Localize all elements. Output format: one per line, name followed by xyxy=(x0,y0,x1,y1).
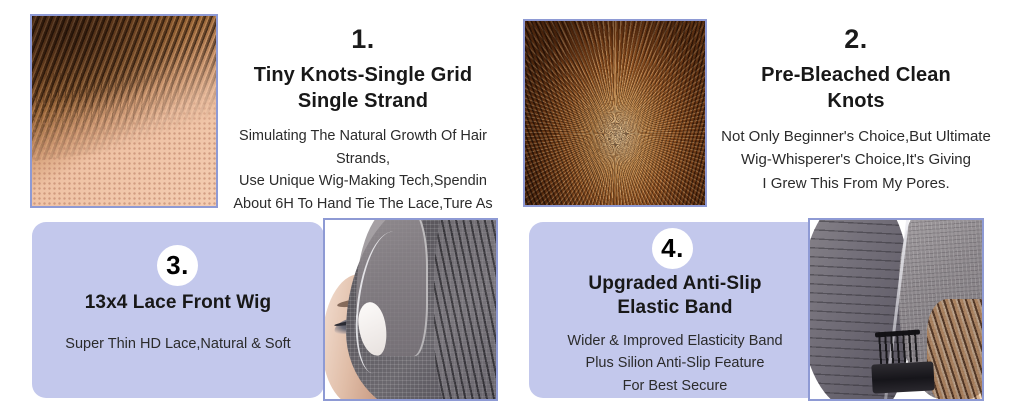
brown-hair-edge xyxy=(927,299,984,401)
panel-4-body-line-1: Wider & Improved Elasticity Band xyxy=(533,330,817,352)
lace-front-wig-photo xyxy=(323,218,498,401)
panel-2-text: 2. Pre-Bleached Clean Knots Not Only Beg… xyxy=(706,26,1006,195)
scalp-lace-closeup-photo xyxy=(30,14,218,208)
photo-art xyxy=(810,220,982,399)
panel-1-headline-line-1: Tiny Knots-Single Grid xyxy=(218,63,508,89)
panel-4-headline-line-2: Elastic Band xyxy=(533,296,817,320)
panel-1-text: 1. Tiny Knots-Single Grid Single Strand … xyxy=(218,26,508,238)
panel-3-headline: 13x4 Lace Front Wig xyxy=(36,291,320,315)
photo-art xyxy=(525,21,705,205)
anti-slip-elastic-band xyxy=(871,362,934,394)
panel-3-headline-line-1: 13x4 Lace Front Wig xyxy=(36,291,320,315)
panel-2-number: 2. xyxy=(706,26,1006,53)
panel-4-number-badge: 4. xyxy=(652,228,693,269)
panel-4-body-line-2: Plus Silion Anti-Slip Feature xyxy=(533,352,817,374)
elastic-band-cap-photo xyxy=(808,218,984,401)
hair-sweep-right xyxy=(608,19,707,207)
panel-2-headline: Pre-Bleached Clean Knots xyxy=(706,63,1006,114)
panel-1-body-line-1: Simulating The Natural Growth Of Hair St… xyxy=(218,125,508,170)
panel-4-body-line-3: For Best Secure xyxy=(533,375,817,397)
panel-3-body-line-1: Super Thin HD Lace,Natural & Soft xyxy=(36,333,320,355)
panel-1-number: 1. xyxy=(218,26,508,53)
bleached-knots-closeup-photo xyxy=(523,19,707,207)
panel-3-number: 3. xyxy=(166,252,189,278)
cap-combs xyxy=(878,330,918,365)
panel-1-headline: Tiny Knots-Single Grid Single Strand xyxy=(218,63,508,114)
panel-4-body: Wider & Improved Elasticity Band Plus Si… xyxy=(533,330,817,397)
panel-4-text: Upgraded Anti-Slip Elastic Band Wider & … xyxy=(533,272,817,397)
infographic-root: 1. Tiny Knots-Single Grid Single Strand … xyxy=(0,0,1024,420)
panel-3-body: Super Thin HD Lace,Natural & Soft xyxy=(36,333,320,355)
hair-wefts xyxy=(434,218,498,401)
lace-grid-texture xyxy=(32,81,216,206)
panel-4-headline-line-1: Upgraded Anti-Slip xyxy=(533,272,817,296)
photo-art xyxy=(325,220,496,399)
panel-2-body-line-2: Wig-Whisperer's Choice,It's Giving xyxy=(706,148,1006,171)
panel-1-headline-line-2: Single Strand xyxy=(218,89,508,115)
photo-art xyxy=(32,16,216,206)
panel-2-headline-line-2: Knots xyxy=(706,89,1006,115)
panel-1-body-line-2: Use Unique Wig-Making Tech,Spendin xyxy=(218,170,508,192)
panel-2-body-line-1: Not Only Beginner's Choice,But Ultimate xyxy=(706,125,1006,148)
panel-4-number: 4. xyxy=(661,235,684,261)
panel-2-body: Not Only Beginner's Choice,But Ultimate … xyxy=(706,125,1006,195)
panel-3-number-badge: 3. xyxy=(157,245,198,286)
panel-4-headline: Upgraded Anti-Slip Elastic Band xyxy=(533,272,817,321)
panel-3-text: 13x4 Lace Front Wig Super Thin HD Lace,N… xyxy=(36,291,320,356)
panel-2-body-line-3: I Grew This From My Pores. xyxy=(706,172,1006,195)
panel-2-headline-line-1: Pre-Bleached Clean xyxy=(706,63,1006,89)
